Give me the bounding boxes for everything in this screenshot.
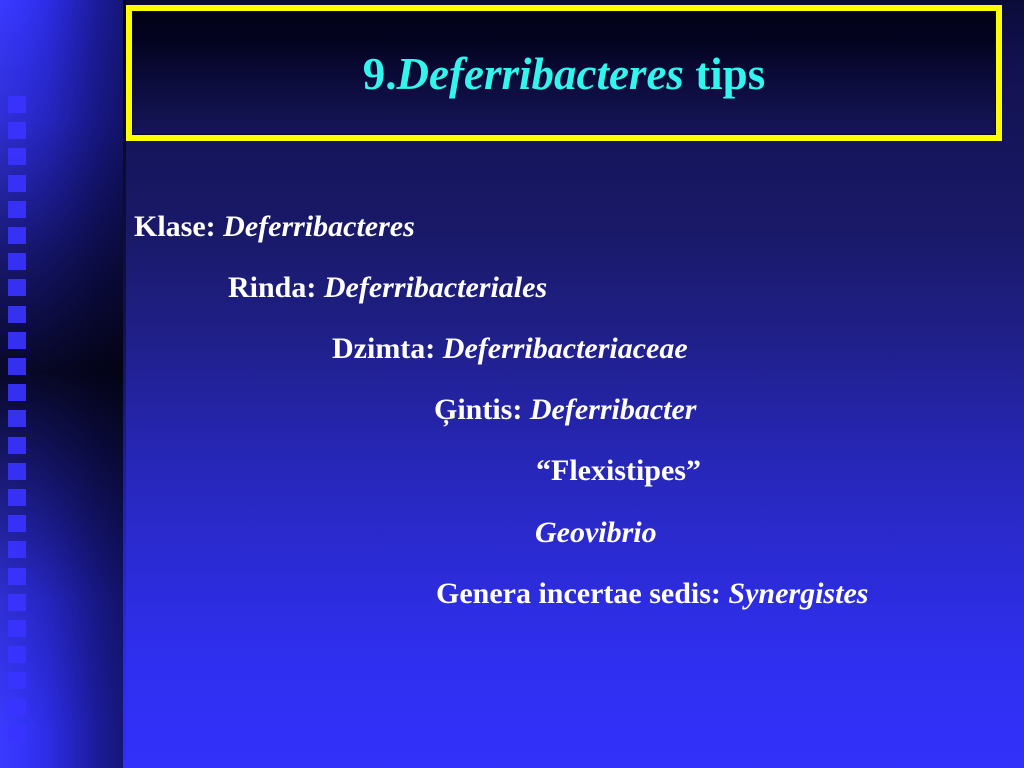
taxonomy-line-flexistipes: “Flexistipes”: [536, 456, 701, 486]
taxonomy-taxon-name: Synergistes: [728, 577, 868, 610]
taxonomy-rank-label: Rinda:: [228, 271, 324, 304]
taxonomy-taxon-name: Deferribacter: [530, 393, 697, 426]
taxonomy-rank-label: Klase:: [134, 210, 223, 243]
taxonomy-rank-label: Dzimta:: [332, 332, 443, 365]
taxonomy-line-order: Rinda: Deferribacteriales: [228, 273, 547, 303]
taxonomy-taxon-name: Geovibrio: [535, 516, 657, 549]
taxonomy-line-class: Klase: Deferribacteres: [134, 212, 415, 242]
taxonomy-line-genus: Ģintis: Deferribacter: [434, 395, 696, 425]
taxonomy-rank-label: Genera incertae sedis:: [436, 577, 728, 610]
taxonomy-taxon-name: Deferribacteriaceae: [443, 332, 688, 365]
taxonomy-rank-label: Ģintis:: [434, 393, 530, 426]
taxonomy-list: Klase: Deferribacteres Rinda: Deferribac…: [0, 0, 1024, 768]
taxonomy-taxon-name: Deferribacteres: [223, 210, 415, 243]
taxonomy-taxon-name: Deferribacteriales: [324, 271, 547, 304]
presentation-slide: 9.Deferribacteres tips Klase: Deferribac…: [0, 0, 1024, 768]
taxonomy-plain-4: “Flexistipes”: [536, 454, 701, 487]
taxonomy-line-incertae-sedis: Genera incertae sedis: Synergistes: [436, 579, 868, 609]
taxonomy-line-family: Dzimta: Deferribacteriaceae: [332, 334, 688, 364]
taxonomy-line-geovibrio: Geovibrio: [535, 518, 657, 548]
